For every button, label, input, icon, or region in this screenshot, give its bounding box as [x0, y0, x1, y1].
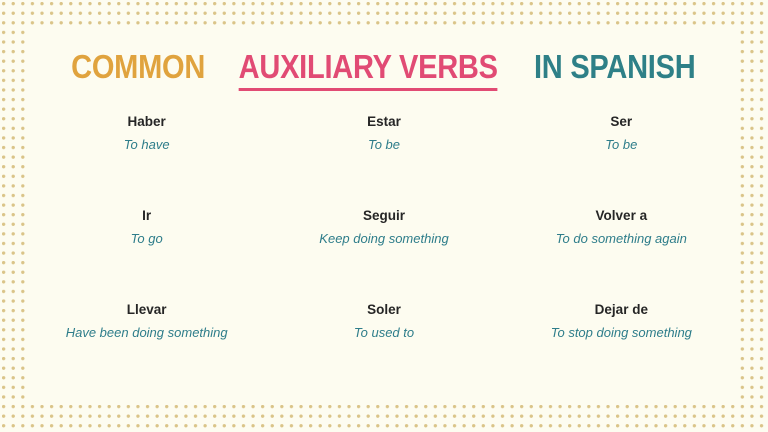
title-segment-in-spanish: IN SPANISH [534, 48, 695, 86]
verb-meaning: To have [28, 136, 265, 154]
slide-content: COMMONAUXILIARY VERBSIN SPANISH Haber To… [28, 27, 740, 405]
verb-entry-volver-a: Volver a To do something again [503, 205, 740, 299]
verb-term: Dejar de [503, 301, 740, 319]
verb-entry-seguir: Seguir Keep doing something [265, 205, 502, 299]
title-segment-auxiliary-verbs: AUXILIARY VERBS [239, 48, 498, 91]
verb-entry-ser: Ser To be [503, 111, 740, 205]
verb-term: Haber [28, 113, 265, 131]
page-title: COMMONAUXILIARY VERBSIN SPANISH [28, 48, 740, 91]
verb-entry-dejar-de: Dejar de To stop doing something [503, 299, 740, 393]
verb-meaning: Keep doing something [265, 230, 502, 248]
verb-term: Ser [503, 113, 740, 131]
verb-entry-ir: Ir To go [28, 205, 265, 299]
verb-term: Estar [265, 113, 502, 131]
verb-row: Llevar Have been doing something Soler T… [28, 299, 740, 393]
verb-meaning: To stop doing something [503, 324, 740, 342]
verb-row: Haber To have Estar To be Ser To be [28, 111, 740, 205]
verb-term: Volver a [503, 207, 740, 225]
title-segment-common: COMMON [71, 48, 205, 86]
verb-entry-llevar: Llevar Have been doing something [28, 299, 265, 393]
verb-meaning: To do something again [503, 230, 740, 248]
verb-row: Ir To go Seguir Keep doing something Vol… [28, 205, 740, 299]
verb-grid: Haber To have Estar To be Ser To be Ir T… [28, 111, 740, 393]
verb-meaning: To be [503, 136, 740, 154]
verb-term: Llevar [28, 301, 265, 319]
slide-canvas: COMMONAUXILIARY VERBSIN SPANISH Haber To… [0, 0, 768, 432]
verb-meaning: To used to [265, 324, 502, 342]
verb-meaning: To go [28, 230, 265, 248]
verb-entry-estar: Estar To be [265, 111, 502, 205]
verb-entry-haber: Haber To have [28, 111, 265, 205]
verb-meaning: Have been doing something [28, 324, 265, 342]
verb-term: Seguir [265, 207, 502, 225]
verb-term: Soler [265, 301, 502, 319]
verb-meaning: To be [265, 136, 502, 154]
verb-entry-soler: Soler To used to [265, 299, 502, 393]
verb-term: Ir [28, 207, 265, 225]
